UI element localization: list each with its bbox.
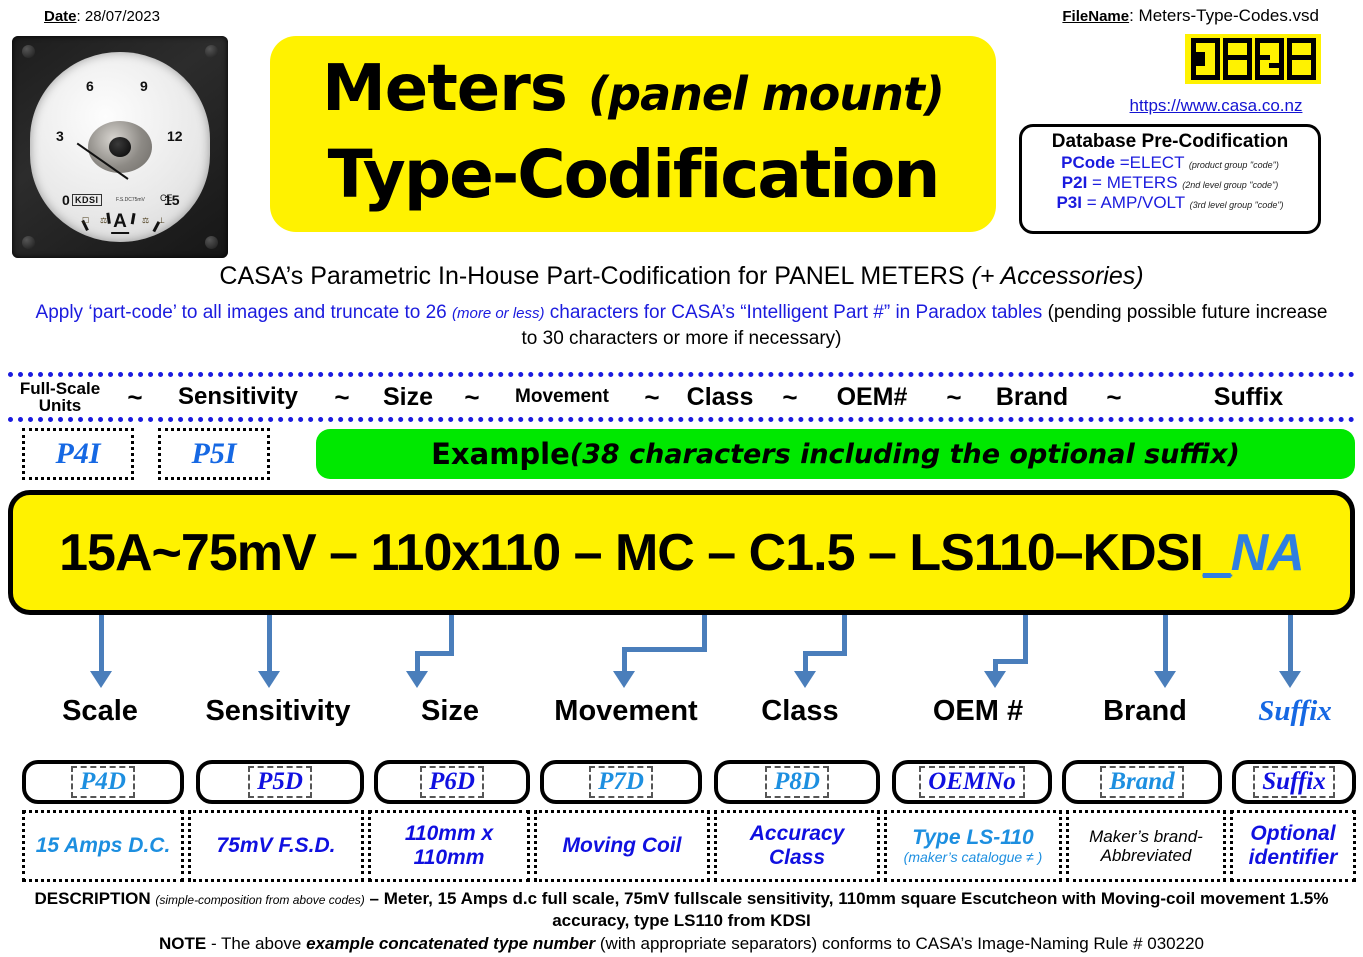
pcode-label-brand: Brand: [1100, 766, 1183, 799]
tilde-separator: ~: [630, 382, 674, 413]
logo-letter-a: [1223, 38, 1252, 80]
pcode-label-p5d: P5D: [248, 766, 312, 799]
pcode-box-row: P4D P5D P6D P7D P8D OEMNo Brand Suffix: [0, 760, 1363, 806]
pcode-box-brand[interactable]: Brand: [1062, 760, 1222, 804]
panel-meter-photo: 0 3 6 9 12 15 KDSI F.S.DC75mV CE ☐ ⚖ ⚖ ⊥…: [12, 36, 228, 258]
connector-arrows: [0, 615, 1363, 695]
footer-note-a: - The above: [206, 934, 306, 953]
example-banner: Example (38 characters including the opt…: [316, 429, 1355, 479]
pcode-box-p7d[interactable]: P7D: [540, 760, 702, 804]
filename-line: FileName: Meters-Type-Codes.vsd: [1062, 6, 1319, 26]
dial-ground-icon: ⊥: [158, 216, 165, 225]
fsu-line1: Full-Scale: [8, 380, 112, 397]
category-size: Size: [390, 695, 510, 728]
ce-mark-icon: CE: [160, 193, 173, 203]
tilde-separator: ~: [112, 382, 158, 413]
dial-number-0: 0: [62, 192, 70, 208]
desc-class: Accuracy Class: [714, 810, 880, 882]
category-label-row: Scale Sensitivity Size Movement Class OE…: [0, 695, 1363, 743]
desc-size: 110mm x 110mm: [368, 810, 530, 882]
code-box-p4i[interactable]: P4I: [22, 428, 134, 480]
field-header-row: Full-Scale Units ~ Sensitivity ~ Size ~ …: [8, 372, 1355, 422]
code-underscore: _: [1203, 524, 1231, 582]
category-suffix: Suffix: [1225, 695, 1363, 728]
dial-symbol-icon: ⚖: [100, 216, 107, 225]
intro-p-d: Paradox tables: [916, 302, 1048, 323]
meter-hub: [88, 121, 152, 173]
dial-brand-label: KDSI: [72, 194, 102, 206]
code-main: 15A~75mV – 110x110 – MC – C1.5 – LS110–K…: [59, 524, 1203, 582]
db-row-pcode: PCode =ELECT (product group "code"): [1028, 153, 1312, 173]
bezel-screw-icon: [205, 236, 218, 249]
bezel-screw-icon: [22, 236, 35, 249]
desc-movement: Moving Coil: [534, 810, 710, 882]
tilde-separator: ~: [766, 382, 814, 413]
pcode-box-oemno[interactable]: OEMNo: [892, 760, 1052, 804]
intro-heading: CASA’s Parametric In-House Part-Codifica…: [0, 262, 1363, 291]
field-header-brand: Brand: [978, 383, 1086, 412]
date-label: Date: [44, 8, 77, 25]
scale-tick: [60, 235, 70, 242]
field-header-class: Class: [674, 383, 766, 412]
intro-p-a: Apply ‘part-code’ to all images and trun…: [36, 302, 452, 323]
db-note-p2i: (2nd level group "code"): [1182, 180, 1278, 190]
pcode-label-p8d: P8D: [765, 766, 829, 799]
footer-note-b: example concatenated type number: [306, 934, 595, 953]
desc-suffix: Optional identifier: [1230, 810, 1356, 882]
footer-note: NOTE - The above example concatenated ty…: [10, 933, 1353, 955]
intro-p-c: characters for CASA’s “Intelligent Part …: [545, 302, 911, 323]
db-eq-pcode: =: [1115, 153, 1130, 172]
desc-scale: 15 Amps D.C.: [22, 810, 184, 882]
code-box-p5i[interactable]: P5I: [158, 428, 270, 480]
field-header-suffix: Suffix: [1142, 383, 1355, 412]
db-eq-p2i: =: [1087, 173, 1106, 192]
footer-desc-note: (simple-composition from above codes): [155, 893, 364, 907]
footer-description: DESCRIPTION (simple-composition from abo…: [10, 888, 1353, 933]
category-class: Class: [730, 695, 870, 728]
description-cell-row: 15 Amps D.C. 75mV F.S.D. 110mm x 110mm M…: [0, 810, 1363, 884]
db-value-pcode: ELECT: [1130, 153, 1185, 172]
fsu-line2: Units: [8, 397, 112, 414]
desc-brand: Maker’s brand-Abbreviated: [1066, 810, 1226, 882]
footer-note-c: (with appropriate separators) conforms t…: [595, 934, 1204, 953]
scale-tick: [171, 237, 181, 242]
pcode-box-p8d[interactable]: P8D: [714, 760, 880, 804]
filename-label: FileName: [1062, 8, 1129, 25]
intro-p-b: (more or less): [452, 305, 545, 322]
db-box-title: Database Pre-Codification: [1028, 131, 1312, 153]
footer-desc-label: DESCRIPTION: [34, 889, 155, 908]
meter-dial: 0 3 6 9 12 15 KDSI F.S.DC75mV CE ☐ ⚖ ⚖ ⊥…: [30, 52, 210, 242]
field-header-oem: OEM#: [814, 383, 930, 412]
title-banner: Meters (panel mount) Type-Codification: [270, 36, 996, 232]
category-oem: OEM #: [900, 695, 1056, 728]
logo-letter-s: [1255, 38, 1284, 80]
desc-sensitivity: 75mV F.S.D.: [188, 810, 364, 882]
desc-oem-sub: (maker’s catalogue ≠ ): [904, 850, 1043, 866]
tilde-separator: ~: [450, 382, 494, 413]
database-precodification-box: Database Pre-Codification PCode =ELECT (…: [1019, 124, 1321, 234]
pcode-box-p5d[interactable]: P5D: [196, 760, 364, 804]
dial-unit-label: A: [111, 212, 129, 234]
pcode-label-p7d: P7D: [589, 766, 653, 799]
intro-heading-accessories: (+ Accessories): [972, 262, 1144, 290]
category-brand: Brand: [1073, 695, 1217, 728]
logo-letter-a2: [1287, 38, 1316, 80]
pcode-label-oemno: OEMNo: [919, 766, 1025, 799]
title-line-2: Type-Codification: [270, 136, 996, 213]
category-sensitivity: Sensitivity: [183, 695, 373, 728]
db-value-p2i: METERS: [1107, 173, 1178, 192]
pcode-box-p4d[interactable]: P4D: [22, 760, 184, 804]
title-main-text: Meters: [322, 52, 567, 126]
category-scale: Scale: [20, 695, 180, 728]
intro-paragraph: Apply ‘part-code’ to all images and trun…: [30, 300, 1333, 352]
example-code-text: 15A~75mV – 110x110 – MC – C1.5 – LS110–K…: [59, 523, 1304, 583]
db-note-pcode: (product group "code"): [1189, 160, 1279, 170]
field-header-size: Size: [366, 383, 450, 412]
tilde-separator: ~: [1086, 382, 1142, 413]
field-header-full-scale-units: Full-Scale Units: [8, 380, 112, 414]
db-code-p2i: P2I: [1062, 173, 1088, 192]
dial-number-12: 12: [167, 128, 183, 144]
filename-value: : Meters-Type-Codes.vsd: [1129, 6, 1319, 25]
category-movement: Movement: [527, 695, 725, 728]
pcode-label-suffix: Suffix: [1253, 766, 1334, 799]
date-line: Date: 28/07/2023: [44, 8, 160, 25]
db-row-p2i: P2I = METERS (2nd level group "code"): [1028, 173, 1312, 193]
casa-url-link[interactable]: https://www.casa.co.nz: [1111, 96, 1321, 116]
title-line-1: Meters (panel mount): [270, 52, 996, 126]
db-note-p3i: (3rd level group "code"): [1190, 200, 1284, 210]
bezel-screw-icon: [22, 45, 35, 58]
example-note: (38 characters including the optional su…: [570, 439, 1240, 470]
desc-oem-main: Type LS-110: [912, 826, 1033, 849]
date-value: : 28/07/2023: [77, 8, 160, 25]
casa-logo: [1185, 34, 1321, 84]
dial-spec-label: F.S.DC75mV: [116, 197, 145, 203]
intro-heading-text: CASA’s Parametric In-House Part-Codifica…: [219, 262, 971, 290]
tilde-separator: ~: [318, 382, 366, 413]
db-value-p3i: AMP/VOLT: [1100, 193, 1184, 212]
footer-desc-body: – Meter, 15 Amps d.c full scale, 75mV fu…: [365, 889, 1329, 930]
dial-number-3: 3: [56, 128, 64, 144]
tilde-separator: ~: [930, 382, 978, 413]
example-label: Example: [431, 437, 570, 471]
db-code-p3i: P3I: [1056, 193, 1082, 212]
pcode-box-suffix[interactable]: Suffix: [1232, 760, 1356, 804]
field-header-movement: Movement: [494, 386, 630, 408]
pi-example-row: P4I P5I Example (38 characters including…: [10, 428, 1355, 482]
pcode-box-p6d[interactable]: P6D: [374, 760, 530, 804]
logo-letter-c: [1191, 38, 1220, 80]
db-code-pcode: PCode: [1061, 153, 1115, 172]
bezel-screw-icon: [205, 45, 218, 58]
footer-note-label: NOTE: [159, 934, 206, 953]
example-code-bar: 15A~75mV – 110x110 – MC – C1.5 – LS110–K…: [8, 490, 1355, 615]
dial-number-9: 9: [140, 78, 148, 94]
footer-notes: DESCRIPTION (simple-composition from abo…: [10, 888, 1353, 955]
pcode-label-p4d: P4D: [71, 766, 135, 799]
title-sub-text: (panel mount): [588, 67, 944, 121]
dial-symbol-icon: ☐: [82, 216, 89, 225]
field-header-sensitivity: Sensitivity: [158, 383, 318, 411]
pcode-label-p6d: P6D: [420, 766, 484, 799]
scale-tick: [131, 213, 136, 224]
code-suffix: NA: [1231, 524, 1304, 582]
dial-symbol-icon: ⚖: [142, 216, 149, 225]
desc-oem: Type LS-110(maker’s catalogue ≠ ): [884, 810, 1062, 882]
db-eq-p3i: =: [1082, 193, 1100, 212]
dial-number-6: 6: [86, 78, 94, 94]
db-row-p3i: P3I = AMP/VOLT (3rd level group "code"): [1028, 193, 1312, 213]
